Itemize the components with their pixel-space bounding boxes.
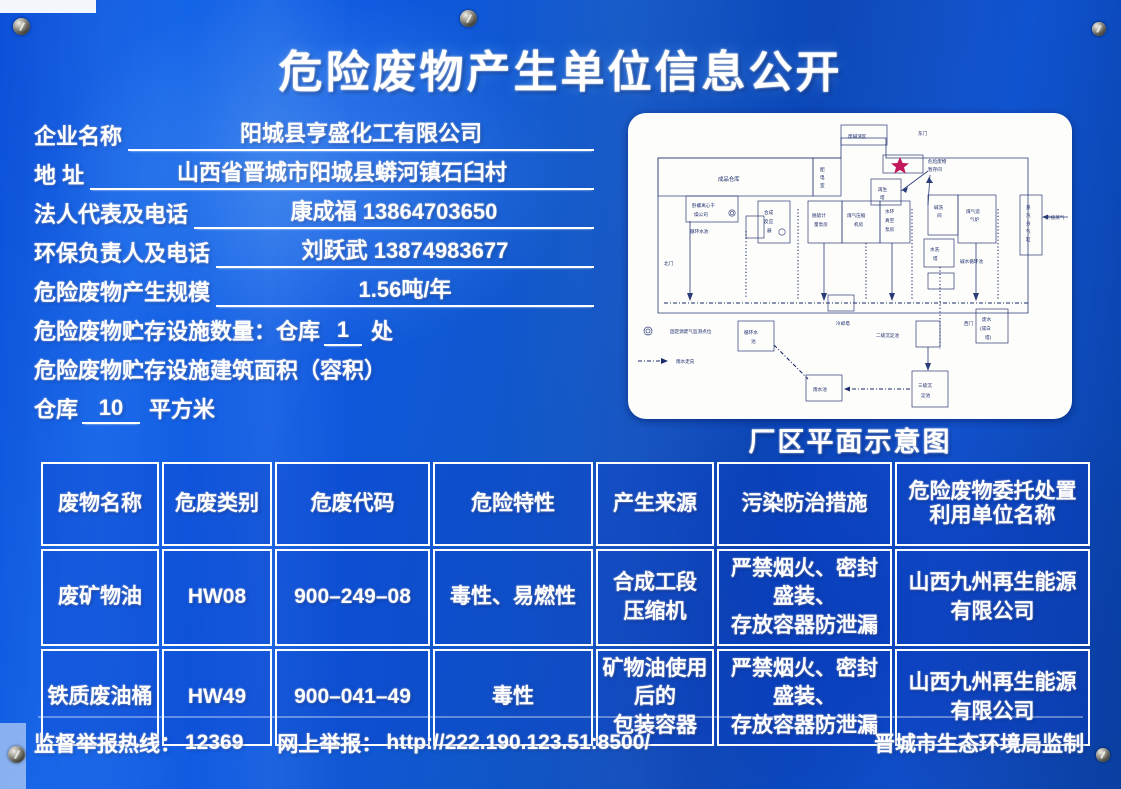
site-plan-image: 成品仓库 配 电 室 废碱渣区 东门 危险废物 暂存间 再生 塔 bbox=[628, 113, 1072, 419]
svg-text:塔): 塔) bbox=[985, 334, 992, 341]
svg-text:煤气压缩: 煤气压缩 bbox=[847, 212, 866, 219]
svg-text:碱水循环池: 碱水循环池 bbox=[960, 258, 983, 265]
svg-text:冷却塔: 冷却塔 bbox=[836, 320, 850, 327]
cell-disposal-line1: 山西九州再生能源 bbox=[899, 569, 1086, 597]
svg-text:气炉: 气炉 bbox=[970, 216, 980, 223]
svg-text:器: 器 bbox=[767, 228, 772, 234]
screw-icon bbox=[8, 746, 25, 763]
cell-hazard-property: 毒性、易燃性 bbox=[433, 549, 593, 646]
cell-source: 合成工段 压缩机 bbox=[596, 549, 714, 646]
info-value: 刘跃武 13874983677 bbox=[216, 233, 594, 268]
cell-source-line2: 压缩机 bbox=[600, 598, 710, 626]
info-row-company-name: 企业名称 阳城县亨盛化工有限公司 bbox=[34, 112, 594, 151]
svg-text:机房: 机房 bbox=[854, 221, 864, 228]
svg-text:再生: 再生 bbox=[878, 186, 888, 193]
online-report-label: 网上举报： bbox=[277, 728, 382, 758]
svg-text:西门: 西门 bbox=[964, 320, 974, 327]
hazardous-waste-table: 废物名称 危废类别 危废代码 危险特性 产生来源 污染防治措施 危险废物委托处置… bbox=[38, 459, 1093, 749]
site-plan-drawing: 成品仓库 配 电 室 废碱渣区 东门 危险废物 暂存间 再生 塔 bbox=[628, 113, 1072, 419]
column-header-measures: 污染防治措施 bbox=[717, 462, 892, 546]
svg-text:雨水池: 雨水池 bbox=[813, 386, 827, 393]
svg-text:三级沉: 三级沉 bbox=[918, 382, 932, 389]
footer-bar: 监督举报热线： 12369 网上举报： http://222.190.123.5… bbox=[34, 728, 1084, 758]
svg-text:废水: 废水 bbox=[982, 316, 992, 323]
cell-disposal-line2: 有限公司 bbox=[899, 698, 1086, 726]
column-header-disposal-unit: 危险废物委托处置 利用单位名称 bbox=[895, 462, 1090, 546]
info-label: 危险废物产生规模 bbox=[34, 275, 210, 307]
info-value: 康成福 13864703650 bbox=[194, 194, 594, 229]
info-value: 1.56吨/年 bbox=[216, 272, 594, 307]
svg-text:二级沉淀池: 二级沉淀池 bbox=[876, 332, 899, 339]
cell-waste-name: 废矿物油 bbox=[41, 549, 159, 646]
svg-text:(或白: (或白 bbox=[980, 325, 991, 332]
enterprise-info-block: 企业名称 阳城县亨盛化工有限公司 地 址 山西省晋城市阳城县蟒河镇石臼村 法人代… bbox=[34, 112, 594, 424]
info-row-legal-rep: 法人代表及电话 康成福 13864703650 bbox=[34, 190, 594, 229]
cell-measures-line1: 严禁烟火、密封盛装、 bbox=[721, 655, 888, 712]
info-label: 地 址 bbox=[34, 158, 84, 190]
footer-divider bbox=[38, 716, 1083, 718]
cell-waste-code: 900–249–08 bbox=[275, 549, 430, 646]
info-label: 企业名称 bbox=[34, 119, 122, 151]
column-header-hazard-property: 危险特性 bbox=[433, 462, 593, 546]
info-label: 仓库 bbox=[34, 392, 78, 424]
svg-text:燥公司: 燥公司 bbox=[694, 211, 708, 218]
svg-text:卧螺离心干: 卧螺离心干 bbox=[692, 202, 715, 209]
svg-text:循环水: 循环水 bbox=[744, 329, 758, 336]
svg-text:气: 气 bbox=[1026, 228, 1031, 234]
info-row-storage-area: 仓库 10 平方米 bbox=[34, 385, 594, 424]
cell-measures: 严禁烟火、密封盛装、 存放容器防泄漏 bbox=[717, 549, 892, 646]
svg-text:间: 间 bbox=[937, 212, 942, 219]
info-row-storage-area-title: 危险废物贮存设施建筑面积（容积） bbox=[34, 346, 594, 385]
svg-text:蒸: 蒸 bbox=[1026, 204, 1031, 211]
svg-text:废碱渣区: 废碱渣区 bbox=[848, 133, 867, 140]
info-label: 法人代表及电话 bbox=[34, 197, 188, 229]
hotline-label: 监督举报热线： bbox=[34, 728, 181, 758]
svg-text:室: 室 bbox=[820, 182, 825, 188]
disposal-header-line2: 利用单位名称 bbox=[899, 504, 1086, 528]
svg-text:分: 分 bbox=[1026, 220, 1031, 227]
info-value: 山西省晋城市阳城县蟒河镇石臼村 bbox=[90, 155, 594, 190]
cell-source-line1: 合成工段 bbox=[600, 569, 710, 597]
svg-text:泵房: 泵房 bbox=[885, 226, 895, 233]
column-header-waste-code: 危废代码 bbox=[275, 462, 430, 546]
info-unit: 处 bbox=[371, 314, 393, 346]
svg-text:配: 配 bbox=[820, 167, 825, 173]
svg-text:固定源废气监测点位: 固定源废气监测点位 bbox=[670, 328, 712, 335]
svg-text:危险废物: 危险废物 bbox=[928, 158, 947, 165]
plan-legend: 固定源废气监测点位 雨水走向 bbox=[638, 327, 712, 365]
site-plan-panel: 成品仓库 配 电 室 废碱渣区 东门 危险废物 暂存间 再生 塔 bbox=[628, 113, 1072, 419]
screw-icon bbox=[13, 18, 30, 35]
svg-text:北门: 北门 bbox=[664, 260, 674, 267]
info-unit: 平方米 bbox=[149, 392, 215, 424]
screw-icon bbox=[1092, 22, 1106, 36]
issuer-label: 晋城市生态环境局监制 bbox=[874, 728, 1084, 758]
cell-disposal-unit: 山西九州再生能源 有限公司 bbox=[895, 549, 1090, 646]
svg-text:暂存间: 暂存间 bbox=[928, 166, 942, 173]
svg-text:水环: 水环 bbox=[885, 208, 895, 215]
cell-measures-line2: 存放容器防泄漏 bbox=[721, 612, 888, 640]
info-row-storage-count: 危险废物贮存设施数量：仓库 1 处 bbox=[34, 307, 594, 346]
info-label: 环保负责人及电话 bbox=[34, 236, 210, 268]
screw-icon bbox=[460, 10, 477, 27]
cell-disposal-line2: 有限公司 bbox=[899, 598, 1086, 626]
svg-text:电: 电 bbox=[820, 174, 825, 180]
info-value: 阳城县亨盛化工有限公司 bbox=[128, 116, 594, 151]
svg-text:东门: 东门 bbox=[918, 130, 928, 137]
svg-text:循环水池: 循环水池 bbox=[690, 228, 709, 235]
hotline-value: 12369 bbox=[185, 731, 243, 755]
svg-text:池: 池 bbox=[751, 338, 756, 344]
info-label: 危险废物贮存设施建筑面积（容积） bbox=[34, 353, 386, 385]
info-value: 10 bbox=[82, 395, 140, 424]
page-title: 危险废物产生单位信息公开 bbox=[0, 36, 1121, 100]
svg-text:真空: 真空 bbox=[885, 217, 895, 224]
cell-disposal-line1: 山西九州再生能源 bbox=[899, 669, 1086, 697]
info-row-address: 地 址 山西省晋城市阳城县蟒河镇石臼村 bbox=[34, 151, 594, 190]
svg-text:脱硫计: 脱硫计 bbox=[812, 212, 826, 219]
online-report-url: http://222.190.123.51:8500/ bbox=[386, 731, 650, 755]
svg-text:汽: 汽 bbox=[1026, 212, 1031, 218]
svg-text:成品仓库: 成品仓库 bbox=[718, 175, 740, 183]
svg-text:外接蒸气: 外接蒸气 bbox=[1046, 214, 1065, 221]
info-row-generation-scale: 危险废物产生规模 1.56吨/年 bbox=[34, 268, 594, 307]
svg-text:雨水走向: 雨水走向 bbox=[676, 358, 695, 365]
svg-text:碱洗: 碱洗 bbox=[934, 204, 944, 211]
column-header-waste-name: 废物名称 bbox=[41, 462, 159, 546]
info-value: 1 bbox=[324, 317, 362, 346]
information-disclosure-board: 危险废物产生单位信息公开 企业名称 阳城县亨盛化工有限公司 地 址 山西省晋城市… bbox=[0, 0, 1121, 789]
table-header-row: 废物名称 危废类别 危废代码 危险特性 产生来源 污染防治措施 危险废物委托处置… bbox=[41, 462, 1090, 546]
svg-text:煤气造: 煤气造 bbox=[966, 208, 980, 215]
hazardous-waste-star-marker bbox=[891, 157, 909, 174]
disposal-header-line1: 危险废物委托处置 bbox=[899, 480, 1086, 504]
top-edge-strip bbox=[0, 0, 96, 13]
table-row: 废矿物油 HW08 900–249–08 毒性、易燃性 合成工段 压缩机 严禁烟… bbox=[41, 549, 1090, 646]
info-label: 危险废物贮存设施数量：仓库 bbox=[34, 314, 320, 346]
column-header-source: 产生来源 bbox=[596, 462, 714, 546]
site-plan-caption: 厂区平面示意图 bbox=[628, 420, 1072, 459]
svg-text:缸: 缸 bbox=[1026, 236, 1031, 242]
svg-text:合成: 合成 bbox=[764, 209, 774, 216]
screw-icon bbox=[1096, 748, 1110, 762]
cell-waste-category: HW08 bbox=[162, 549, 272, 646]
svg-text:塔: 塔 bbox=[933, 255, 938, 262]
svg-text:量泵房: 量泵房 bbox=[814, 221, 828, 228]
svg-text:淀池: 淀池 bbox=[921, 392, 931, 399]
svg-text:反应: 反应 bbox=[764, 218, 774, 225]
cell-source-line1: 矿物油使用后的 bbox=[600, 655, 710, 712]
column-header-waste-category: 危废类别 bbox=[162, 462, 272, 546]
cell-measures-line1: 严禁烟火、密封盛装、 bbox=[721, 555, 888, 612]
svg-text:塔: 塔 bbox=[880, 194, 885, 201]
info-row-env-officer: 环保负责人及电话 刘跃武 13874983677 bbox=[34, 229, 594, 268]
svg-text:水洗: 水洗 bbox=[930, 246, 940, 253]
